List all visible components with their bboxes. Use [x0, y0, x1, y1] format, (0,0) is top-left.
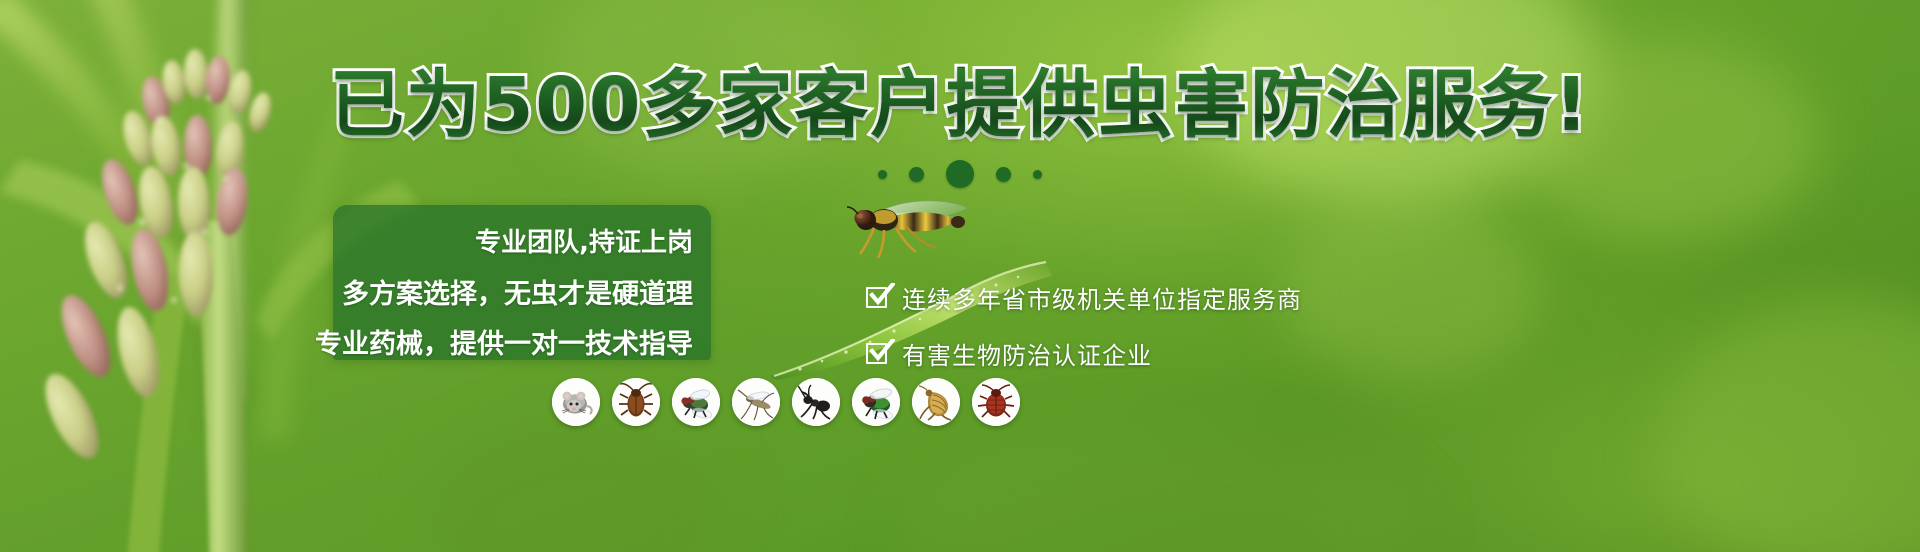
- check-mark-icon: [869, 339, 895, 363]
- checkbox-checked-icon: [866, 285, 890, 309]
- page-title-outline: 已为500多家客户提供虫害防治服务!: [0, 68, 1920, 142]
- dot-divider: [0, 160, 1920, 188]
- dot-large-center: [946, 160, 974, 188]
- feature-line-3: 专业药械，提供一对一技术指导: [315, 322, 693, 361]
- check-mark-icon: [869, 283, 895, 307]
- dot-medium-left: [909, 167, 924, 182]
- cockroach-icon[interactable]: [612, 378, 660, 426]
- credential-list: 连续多年省市级机关单位指定服务商 有害生物防治认证企业: [866, 274, 1302, 380]
- feature-line-2: 多方案选择，无虫才是硬道理: [342, 272, 693, 311]
- promo-banner: 已为500多家客户提供虫害防治服务! 已为500多家客户提供虫害防治服务! 专业…: [0, 0, 1920, 552]
- feature-line-1: 专业团队,持证上岗: [475, 222, 693, 259]
- credential-label: 连续多年省市级机关单位指定服务商: [902, 280, 1302, 315]
- dot-medium-right: [996, 167, 1011, 182]
- bedbug-icon[interactable]: [972, 378, 1020, 426]
- checkbox-checked-icon: [866, 341, 890, 365]
- credential-label: 有害生物防治认证企业: [902, 336, 1152, 371]
- dot-small-right: [1033, 170, 1042, 179]
- housefly-icon[interactable]: [672, 378, 720, 426]
- pest-type-icon-row: [552, 378, 1020, 426]
- credential-item-2: 有害生物防治认证企业: [866, 330, 1302, 376]
- feature-panel: 专业团队,持证上岗 多方案选择，无虫才是硬道理 专业药械，提供一对一技术指导: [333, 205, 711, 360]
- credential-item-1: 连续多年省市级机关单位指定服务商: [866, 274, 1302, 320]
- mosquito-icon[interactable]: [732, 378, 780, 426]
- ant-icon[interactable]: [792, 378, 840, 426]
- blowfly-icon[interactable]: [852, 378, 900, 426]
- rodent-icon[interactable]: [552, 378, 600, 426]
- flea-icon[interactable]: [912, 378, 960, 426]
- dot-small-left: [878, 170, 887, 179]
